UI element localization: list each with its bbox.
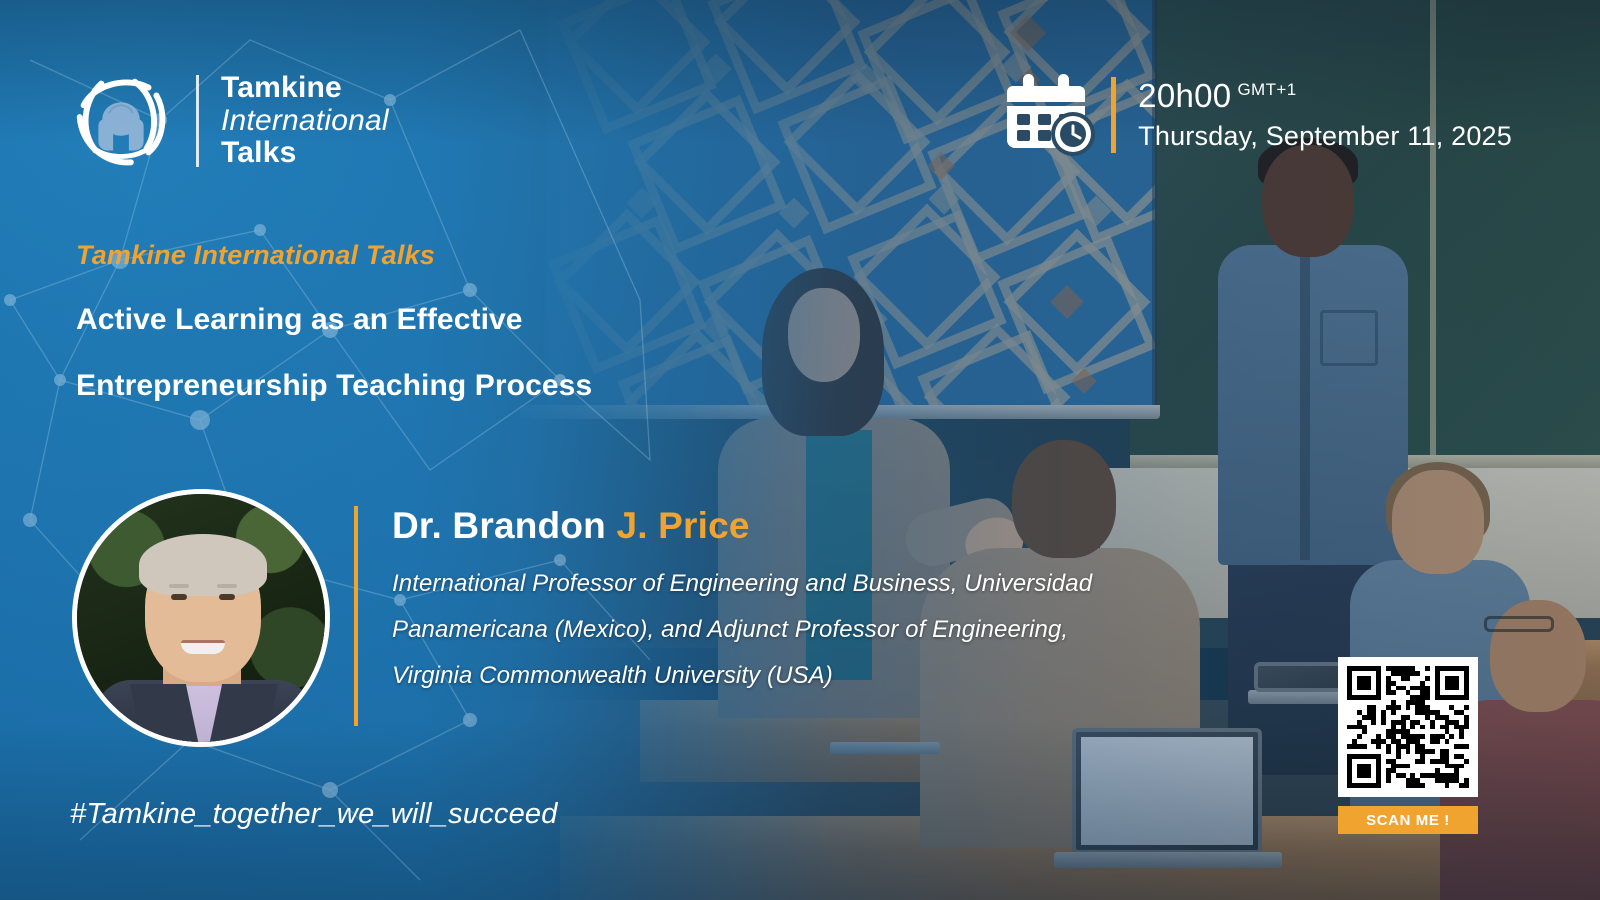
speaker-bio-line-2: Panamericana (Mexico), and Adjunct Profe… — [392, 607, 1352, 653]
globe-hands-brain-logo-icon — [62, 62, 180, 180]
event-time: 20h00 — [1138, 77, 1231, 114]
logo-line-3: Talks — [221, 137, 389, 169]
speaker-name-accent: J. Price — [616, 505, 749, 546]
speaker-bio-line-1: International Professor of Engineering a… — [392, 561, 1352, 607]
schedule-divider — [1111, 77, 1116, 153]
qr-code-icon[interactable] — [1338, 657, 1478, 797]
logo-line-2: International — [221, 105, 389, 137]
speaker-name-primary: Dr. Brandon — [392, 505, 606, 546]
qr-block[interactable]: SCAN ME ! — [1338, 657, 1478, 834]
speaker-block: Dr. Brandon J. Price International Profe… — [392, 505, 1352, 699]
speaker-divider — [354, 506, 358, 726]
event-timezone: GMT+1 — [1237, 80, 1296, 99]
series-kicker: Tamkine International Talks — [76, 240, 736, 271]
logo-line-1: Tamkine — [221, 72, 389, 104]
brand-logo: Tamkine International Talks — [62, 62, 389, 180]
scan-me-label: SCAN ME ! — [1338, 806, 1478, 834]
hashtag: #Tamkine_together_we_will_succeed — [70, 798, 558, 831]
webinar-banner: Tamkine International Talks — [0, 0, 1600, 900]
speaker-avatar — [72, 489, 330, 747]
title-block: Tamkine International Talks Active Learn… — [76, 240, 736, 403]
calendar-clock-icon — [1005, 72, 1097, 158]
speaker-bio-line-3: Virginia Commonwealth University (USA) — [392, 653, 1352, 699]
schedule-block: 20h00GMT+1 Thursday, September 11, 2025 — [1005, 72, 1512, 158]
talk-title-line-2: Entrepreneurship Teaching Process — [76, 369, 736, 403]
talk-title-line-1: Active Learning as an Effective — [76, 303, 736, 337]
event-date: Thursday, September 11, 2025 — [1138, 121, 1512, 152]
logo-divider — [196, 75, 199, 167]
